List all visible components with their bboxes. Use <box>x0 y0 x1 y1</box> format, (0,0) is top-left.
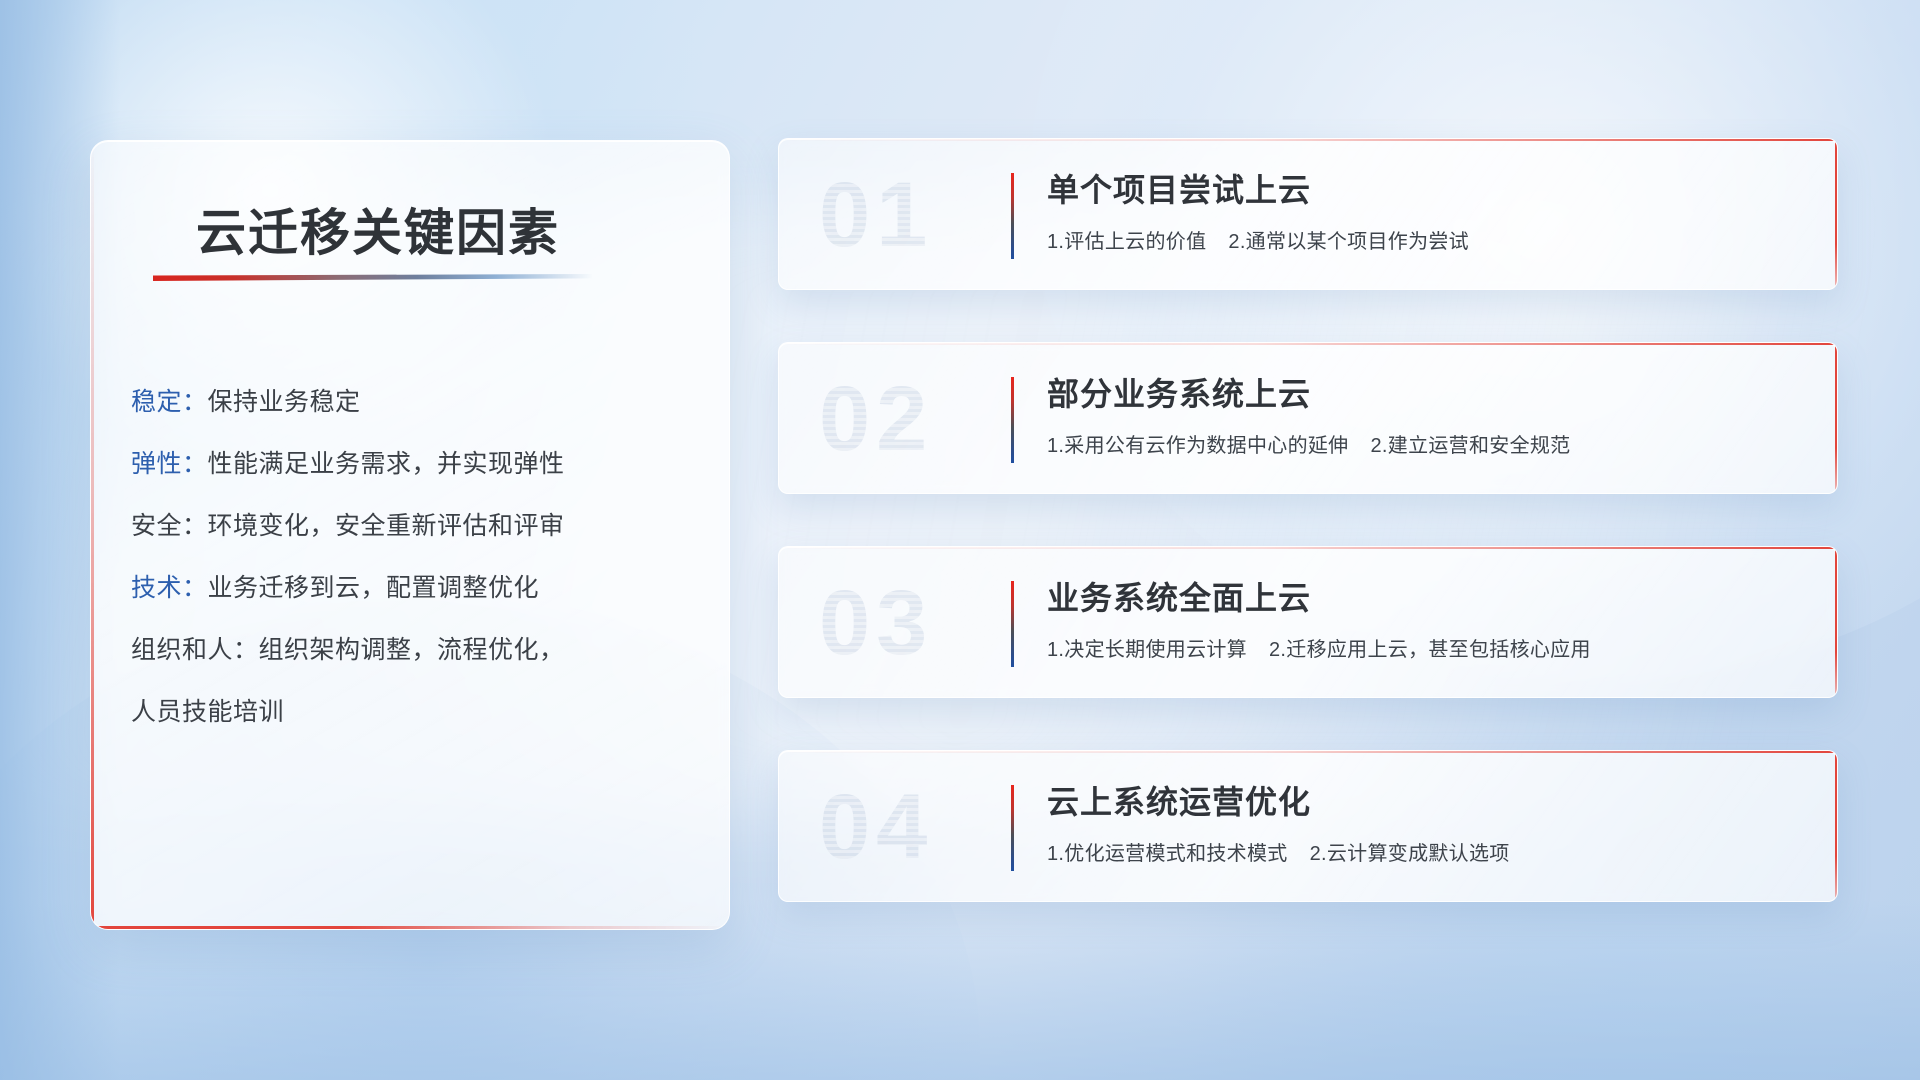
step-accent-bar <box>1011 581 1014 667</box>
list-item-label: 弹性： <box>131 450 208 478</box>
list-item-label: 组织和人： <box>131 636 259 664</box>
step-number-02: 02 <box>819 367 994 471</box>
list-item-label: 安全： <box>131 512 208 540</box>
step-detail-1: 1.采用公有云作为数据中心的延伸 <box>1047 435 1348 457</box>
list-item-label: 稳定： <box>131 388 208 416</box>
list-item-text: 性能满足业务需求，并实现弹性 <box>208 450 565 478</box>
step-description: 1.采用公有云作为数据中心的延伸2.建立运营和安全规范 <box>1047 429 1570 458</box>
step-number-04: 04 <box>819 775 994 879</box>
step-detail-2: 2.迁移应用上云，甚至包括核心应用 <box>1269 639 1591 661</box>
step-title: 业务系统全面上云 <box>1047 573 1311 619</box>
list-item-text: 环境变化，安全重新评估和评审 <box>208 512 565 540</box>
step-detail-2: 2.通常以某个项目作为尝试 <box>1228 231 1469 253</box>
list-item: 弹性：性能满足业务需求，并实现弹性 <box>131 433 691 495</box>
step-number-03: 03 <box>819 571 994 675</box>
key-factors-panel: 云迁移关键因素 稳定：保持业务稳定 弹性：性能满足业务需求，并实现弹性 安全：环… <box>90 140 730 930</box>
slide-stage: 云迁移关键因素 稳定：保持业务稳定 弹性：性能满足业务需求，并实现弹性 安全：环… <box>0 0 1920 1080</box>
step-detail-2: 2.云计算变成默认选项 <box>1310 843 1510 865</box>
step-card-04[interactable]: 04 04 云上系统运营优化 1.优化运营模式和技术模式2.云计算变成默认选项 <box>778 750 1838 902</box>
list-item-text: 组织架构调整，流程优化， <box>259 636 565 664</box>
list-item: 技术：业务迁移到云，配置调整优化 <box>131 557 691 619</box>
step-description: 1.评估上云的价值2.通常以某个项目作为尝试 <box>1047 225 1469 254</box>
step-detail-1: 1.优化运营模式和技术模式 <box>1047 843 1288 865</box>
step-detail-2: 2.建立运营和安全规范 <box>1370 435 1570 457</box>
step-card-03[interactable]: 03 03 业务系统全面上云 1.决定长期使用云计算2.迁移应用上云，甚至包括核… <box>778 546 1838 698</box>
step-title: 单个项目尝试上云 <box>1047 165 1311 211</box>
step-detail-1: 1.评估上云的价值 <box>1047 231 1206 253</box>
step-title: 云上系统运营优化 <box>1047 777 1311 823</box>
step-accent-bar <box>1011 173 1014 259</box>
step-card-01[interactable]: 01 01 单个项目尝试上云 1.评估上云的价值2.通常以某个项目作为尝试 <box>778 138 1838 290</box>
list-item-text: 人员技能培训 <box>131 698 284 726</box>
key-factors-list: 稳定：保持业务稳定 弹性：性能满足业务需求，并实现弹性 安全：环境变化，安全重新… <box>131 371 691 743</box>
list-item: 安全：环境变化，安全重新评估和评审 <box>131 495 691 557</box>
step-accent-bar <box>1011 785 1014 871</box>
title-underline-accent <box>153 274 593 281</box>
step-card-02[interactable]: 02 02 部分业务系统上云 1.采用公有云作为数据中心的延伸2.建立运营和安全… <box>778 342 1838 494</box>
step-description: 1.优化运营模式和技术模式2.云计算变成默认选项 <box>1047 837 1510 866</box>
step-detail-1: 1.决定长期使用云计算 <box>1047 639 1247 661</box>
step-description: 1.决定长期使用云计算2.迁移应用上云，甚至包括核心应用 <box>1047 633 1591 662</box>
list-item: 组织和人：组织架构调整，流程优化， <box>131 619 691 681</box>
list-item-text: 业务迁移到云，配置调整优化 <box>208 574 540 602</box>
migration-steps: 01 01 单个项目尝试上云 1.评估上云的价值2.通常以某个项目作为尝试 02… <box>778 138 1838 954</box>
page-title: 云迁移关键因素 <box>196 193 560 265</box>
list-item: 稳定：保持业务稳定 <box>131 371 691 433</box>
list-item-continuation: 人员技能培训 <box>131 681 691 743</box>
step-number-01: 01 <box>819 163 994 267</box>
list-item-label: 技术： <box>131 574 208 602</box>
step-accent-bar <box>1011 377 1014 463</box>
step-title: 部分业务系统上云 <box>1047 369 1311 415</box>
list-item-text: 保持业务稳定 <box>208 388 361 416</box>
